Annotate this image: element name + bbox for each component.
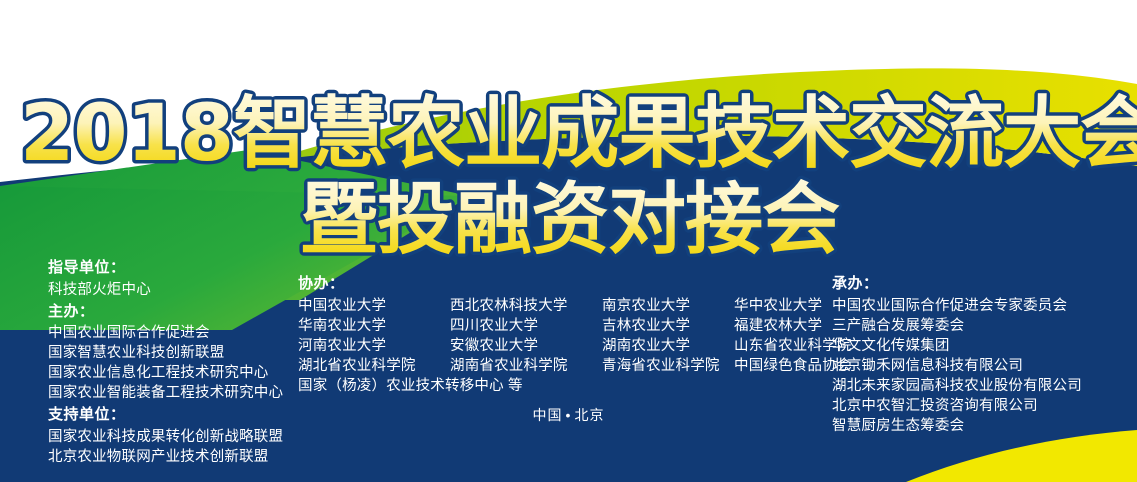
list-item: 北京锄禾网信息科技有限公司 bbox=[832, 356, 1132, 376]
label-co-organizer: 协办： bbox=[298, 274, 818, 295]
organizer-info: 指导单位： 科技部火炬中心 主办： 中国农业国际合作促进会 国家智慧农业科技创新… bbox=[0, 258, 1137, 458]
co-organizer-grid: 中国农业大学 西北农林科技大学 南京农业大学 华中农业大学 华南农业大学 四川农… bbox=[298, 296, 818, 396]
list-item: 国家农业科技成果转化创新战略联盟 bbox=[48, 427, 298, 447]
label-host: 主办： bbox=[48, 302, 298, 323]
list-item: 中国农业国际合作促进会 bbox=[48, 323, 298, 343]
label-undertaker: 承办： bbox=[832, 274, 1132, 295]
list-item: 国家农业智能装备工程技术研究中心 bbox=[48, 383, 298, 403]
list-item: 华南农业大学 bbox=[298, 316, 450, 336]
location-country: 中国 bbox=[533, 407, 563, 423]
list-item: 国家（杨凌）农业技术转移中心 等 bbox=[298, 376, 734, 396]
location-separator: • bbox=[563, 407, 575, 423]
list-item: 三产融合发展筹委会 bbox=[832, 316, 1132, 336]
list-item: 湖南省农业科学院 bbox=[450, 356, 602, 376]
list-item: 国家农业信息化工程技术研究中心 bbox=[48, 363, 298, 383]
conference-banner: 2018智慧农业成果技术交流大会 暨投融资对接会 指导单位： 科技部火炬中心 主… bbox=[0, 0, 1137, 482]
list-item: 中国农业国际合作促进会专家委员会 bbox=[832, 296, 1132, 316]
list-item: 安徽农业大学 bbox=[450, 336, 602, 356]
column-middle: 协办： 中国农业大学 西北农林科技大学 南京农业大学 华中农业大学 华南农业大学… bbox=[298, 274, 818, 396]
label-guidance-unit: 指导单位： bbox=[48, 258, 298, 279]
list-item: 南京农业大学 bbox=[602, 296, 734, 316]
list-item: 湖北省农业科学院 bbox=[298, 356, 450, 376]
list-item: 吉林农业大学 bbox=[602, 316, 734, 336]
list-item: 湖南农业大学 bbox=[602, 336, 734, 356]
list-item: 华文文化传媒集团 bbox=[832, 336, 1132, 356]
list-item: 河南农业大学 bbox=[298, 336, 450, 356]
location-city: 北京 bbox=[574, 407, 604, 423]
list-item: 国家智慧农业科技创新联盟 bbox=[48, 343, 298, 363]
list-item: 四川农业大学 bbox=[450, 316, 602, 336]
list-item: 科技部火炬中心 bbox=[48, 280, 298, 300]
list-item: 中国农业大学 bbox=[298, 296, 450, 316]
list-item: 北京农业物联网产业技术创新联盟 bbox=[48, 447, 298, 467]
list-item: 青海省农业科学院 bbox=[602, 356, 734, 376]
list-item: 湖北未来家园高科技农业股份有限公司 bbox=[832, 376, 1132, 396]
list-item: 西北农林科技大学 bbox=[450, 296, 602, 316]
event-location: 中国•北京 bbox=[0, 405, 1137, 425]
column-left: 指导单位： 科技部火炬中心 主办： 中国农业国际合作促进会 国家智慧农业科技创新… bbox=[48, 258, 298, 467]
